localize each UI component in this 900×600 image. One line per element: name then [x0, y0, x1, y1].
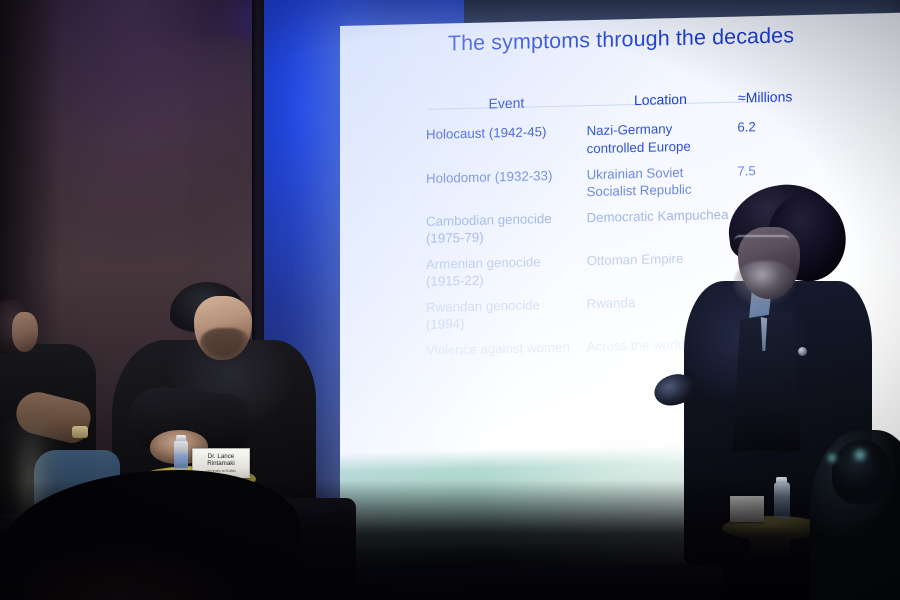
speaker-beard — [734, 261, 796, 307]
column-header-location: Location — [589, 89, 738, 111]
wristwatch-icon — [72, 426, 88, 438]
glasses-icon — [734, 235, 790, 248]
name-card-first: Dr. Lance — [208, 453, 234, 461]
name-card-last: Rintamaki — [207, 460, 235, 468]
cell-event: Holodomor (1932-33) — [426, 166, 587, 205]
slide-title: The symptoms through the decades — [340, 21, 900, 59]
cell-event: Rwandan genocide (1994) — [426, 295, 587, 334]
bottle-cap — [176, 435, 186, 441]
cell-event: Violence against women — [426, 338, 587, 359]
cell-location: Nazi-Germany controlled Europe — [587, 119, 738, 158]
left-person-face — [12, 312, 38, 352]
table-row: Holocaust (1942-45) Nazi-Germany control… — [426, 118, 798, 162]
speaker-lapel-pin — [798, 347, 807, 356]
cell-event: Holocaust (1942-45) — [426, 123, 587, 162]
column-header-event: Event — [426, 92, 589, 114]
table-header-row: Event Location ≈Millions — [426, 87, 798, 114]
water-bottle — [174, 440, 188, 474]
cell-event: Armenian genocide (1915-22) — [426, 252, 587, 291]
bokeh-highlight — [852, 448, 868, 462]
panelist-beard — [200, 328, 250, 362]
cell-millions: 6.2 — [737, 118, 798, 155]
cell-event: Cambodian genocide (1975-79) — [426, 209, 587, 248]
column-header-millions: ≈Millions — [738, 87, 798, 107]
photo-scene: The symptoms through the decades Event L… — [0, 0, 900, 600]
bokeh-highlight — [826, 452, 838, 464]
